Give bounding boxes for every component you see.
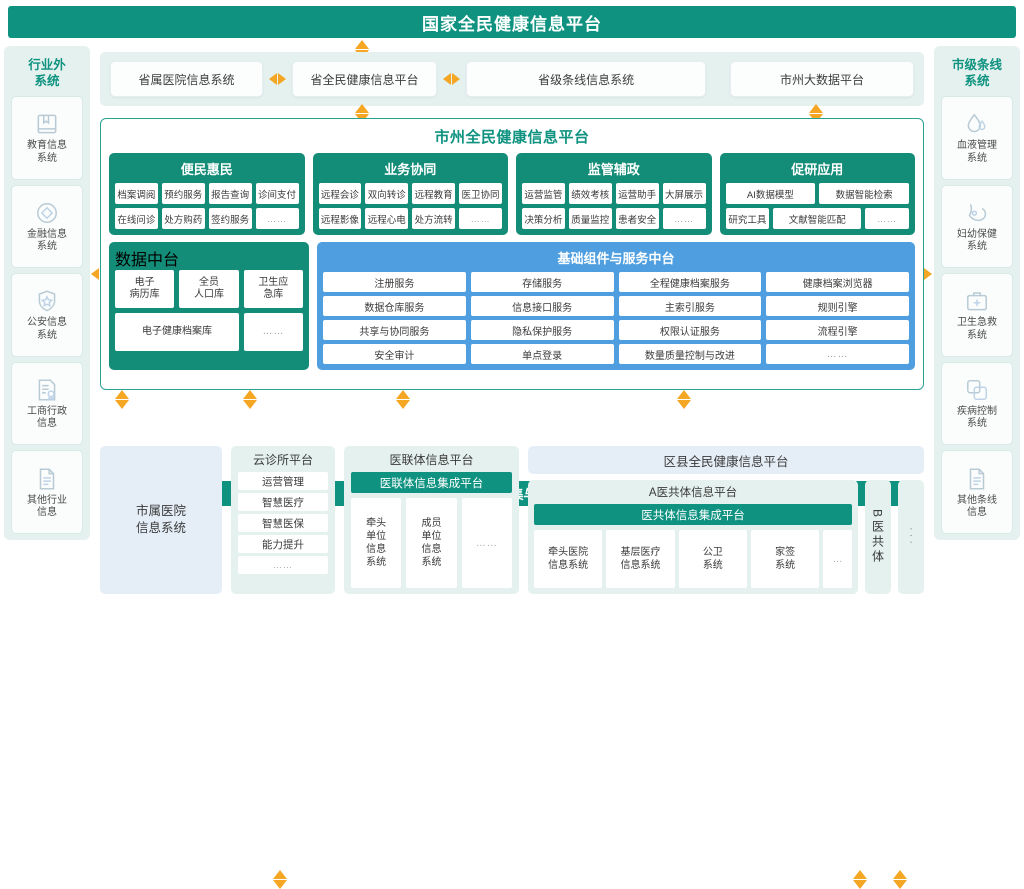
cloud-clinic-item[interactable]: 智慧医保 [238, 514, 328, 532]
domain-chip-row: 远程影像 远程心电 处方流转 …… [319, 208, 503, 229]
data-repo-cell[interactable]: 全员人口库 [179, 270, 238, 308]
domain-chip-row: 研究工具 文献智能匹配 …… [726, 208, 910, 229]
connector-arrow-district-medgroup-c [892, 870, 908, 889]
medical-union-cell-member[interactable]: 成员 单位 信息 系统 [406, 498, 456, 588]
domain-chip-row: 远程会诊 双向转诊 远程教育 医卫协同 [319, 183, 503, 204]
domain-chip[interactable]: 数据智能检索 [819, 183, 909, 204]
service-cell[interactable]: 共享与协同服务 [323, 320, 466, 340]
service-cell[interactable]: 信息接口服务 [471, 296, 614, 316]
business-domain-row: 便民惠民 档案调阅 预约服务 报告查询 诊间支付 在线问诊 处方购药 签约服务 … [109, 153, 915, 235]
domain-chip-more[interactable]: …… [256, 208, 299, 229]
connector-arrow-collect-district [676, 390, 692, 409]
domain-chip[interactable]: 双向转诊 [365, 183, 408, 204]
left-sidebar-title: 行业外 系统 [28, 52, 66, 96]
service-cell[interactable]: 主索引服务 [619, 296, 762, 316]
connector-arrow-district-medgroup-b [852, 870, 868, 889]
service-cell[interactable]: 数量质量控制与改进 [619, 344, 762, 364]
medgroup-a-title: A医共体信息平台 [534, 483, 852, 504]
domain-chip[interactable]: 在线问诊 [115, 208, 158, 229]
document-icon [964, 466, 990, 492]
service-cell[interactable]: 注册服务 [323, 272, 466, 292]
sidebar-item-public-security[interactable]: 公安信息系统 [11, 273, 83, 357]
district-health-platform-group: 区县全民健康信息平台 A医共体信息平台 医共体信息集成平台 [528, 446, 924, 594]
service-cell[interactable]: 权限认证服务 [619, 320, 762, 340]
data-repo-row: 电子病历库 全员人口库 卫生应急库 [115, 270, 303, 308]
center-stack: 省属医院信息系统 省全民健康信息平台 省级条线信息系统 市州大数据平台 市州全民… [96, 46, 928, 540]
service-middle-platform-card: 基础组件与服务中台 注册服务 存储服务 全程健康档案服务 健康档案浏览器 数据仓… [317, 242, 915, 370]
district-platform-title: 区县全民健康信息平台 [528, 446, 924, 474]
domain-chip[interactable]: 运营助手 [616, 183, 659, 204]
sidebar-item-label: 疾病控制系统 [957, 406, 997, 430]
domain-chip[interactable]: 质量监控 [569, 208, 612, 229]
domain-chip[interactable]: AI数据模型 [726, 183, 816, 204]
blood-drop-icon [964, 111, 990, 137]
service-cell[interactable]: 安全审计 [323, 344, 466, 364]
medical-union-cells: 牵头 单位 信息 系统 成员 单位 信息 系统 [351, 498, 512, 588]
province-hospital-system-box[interactable]: 省属医院信息系统 [110, 61, 263, 97]
domain-chip[interactable]: 远程教育 [412, 183, 455, 204]
domain-chip-row: 在线问诊 处方购药 签约服务 …… [115, 208, 299, 229]
domain-chip[interactable]: 决策分析 [522, 208, 565, 229]
domain-chip[interactable]: 绩效考核 [569, 183, 612, 204]
domain-card-collaboration: 业务协同 远程会诊 双向转诊 远程教育 医卫协同 远程影像 远程心电 处方流转 … [313, 153, 509, 235]
domain-chip[interactable]: 研究工具 [726, 208, 770, 229]
medgroup-b-platform[interactable]: B医共体 [865, 480, 891, 594]
medgroup-more-platform[interactable]: ··· [898, 480, 924, 594]
domain-card-convenience: 便民惠民 档案调阅 预约服务 报告查询 诊间支付 在线问诊 处方购药 签约服务 … [109, 153, 305, 235]
medgroup-cell-family-doctor[interactable]: 家签系统 [751, 530, 819, 588]
bottom-systems-zone: 市属医院信息系统 云诊所平台 运营管理 智慧医疗 智慧医保 能力提升 …… 医联… [100, 446, 924, 594]
domain-card-supervision: 监管辅政 运营监管 绩效考核 运营助手 大屏展示 决策分析 质量监控 患者安全 … [516, 153, 712, 235]
connector-arrow-collect-medical-union [395, 390, 411, 409]
data-repo-cell-more[interactable]: …… [244, 313, 303, 351]
cloud-clinic-item[interactable]: 智慧医疗 [238, 493, 328, 511]
medical-union-platform: 医联体信息平台 医联体信息集成平台 牵头 单位 信息 系统 成员 [344, 446, 519, 594]
sidebar-item-other-line-info[interactable]: 其他条线信息 [941, 450, 1013, 534]
city-bigdata-platform-box[interactable]: 市州大数据平台 [730, 61, 914, 97]
sidebar-item-label: 血液管理系统 [957, 140, 997, 164]
right-sidebar-title-line2: 系统 [964, 74, 989, 88]
connector-arrow-collect-city-hospital [114, 390, 130, 409]
service-cell[interactable]: 隐私保护服务 [471, 320, 614, 340]
cloud-clinic-item[interactable]: 运营管理 [238, 472, 328, 490]
domain-chip[interactable]: 大屏展示 [663, 183, 706, 204]
medgroup-cell-primary-care[interactable]: 基层医疗信息系统 [606, 530, 674, 588]
medgroup-cell-public-health[interactable]: 公卫系统 [679, 530, 747, 588]
overlapping-squares-icon [964, 377, 990, 403]
national-platform-banner: 国家全民健康信息平台 [8, 6, 1016, 38]
district-medgroups-row: A医共体信息平台 医共体信息集成平台 牵头医院信息系统 基层医疗信息系统 公卫系… [528, 480, 924, 594]
sidebar-item-business-administration[interactable]: 工商行政信息 [11, 362, 83, 446]
medgroup-a-platform: A医共体信息平台 医共体信息集成平台 牵头医院信息系统 基层医疗信息系统 公卫系… [528, 480, 858, 594]
sidebar-item-education[interactable]: 教育信息系统 [11, 96, 83, 180]
medical-union-cell-lead[interactable]: 牵头 单位 信息 系统 [351, 498, 401, 588]
domain-chip-row: 运营监管 绩效考核 运营助手 大屏展示 [522, 183, 706, 204]
service-cell[interactable]: 数据仓库服务 [323, 296, 466, 316]
domain-chip[interactable]: 档案调阅 [115, 183, 158, 204]
domain-chip-more[interactable]: …… [865, 208, 909, 229]
cloud-clinic-item-more[interactable]: …… [238, 556, 328, 574]
medical-union-integration-bar: 医联体信息集成平台 [351, 472, 512, 493]
service-cell[interactable]: 单点登录 [471, 344, 614, 364]
sidebar-item-label: 金融信息系统 [27, 229, 67, 253]
first-aid-kit-icon [964, 288, 990, 314]
domain-chip[interactable]: 远程会诊 [319, 183, 362, 204]
domain-chip[interactable]: 诊间支付 [256, 183, 299, 204]
domain-card-title: 便民惠民 [115, 157, 299, 183]
medgroup-cell-lead-hospital[interactable]: 牵头医院信息系统 [534, 530, 602, 588]
service-row: 安全审计 单点登录 数量质量控制与改进 …… [323, 344, 909, 364]
sidebar-item-emergency-rescue[interactable]: 卫生急救系统 [941, 273, 1013, 357]
medical-union-cell-more[interactable]: …… [462, 498, 512, 588]
city-panel-title: 市州全民健康信息平台 [109, 125, 915, 153]
data-middle-platform-card: 数据中台 电子病历库 全员人口库 卫生应急库 电子健康档案库 [109, 242, 309, 370]
cloud-clinic-platform: 云诊所平台 运营管理 智慧医疗 智慧医保 能力提升 …… [231, 446, 335, 594]
domain-card-title: 监管辅政 [522, 157, 706, 183]
architecture-diagram: 国家全民健康信息平台 行业外 系统 教育信息系统 金融信息系统 [0, 0, 1024, 548]
sidebar-item-maternal-child-health[interactable]: 妇幼保健系统 [941, 185, 1013, 269]
domain-chip[interactable]: 签约服务 [209, 208, 252, 229]
sidebar-item-other-industry[interactable]: 其他行业信息 [11, 450, 83, 534]
domain-chip[interactable]: 医卫协同 [459, 183, 502, 204]
service-cell[interactable]: 健康档案浏览器 [766, 272, 909, 292]
sidebar-item-finance[interactable]: 金融信息系统 [11, 185, 83, 269]
service-cell-more[interactable]: …… [766, 344, 909, 364]
certificate-icon [34, 377, 60, 403]
left-sidebar-external-systems: 行业外 系统 教育信息系统 金融信息系统 公安信息系统 [4, 46, 90, 540]
medgroup-a-integration-bar: 医共体信息集成平台 [534, 504, 852, 525]
domain-chip[interactable]: 预约服务 [162, 183, 205, 204]
domain-chip[interactable]: 报告查询 [209, 183, 252, 204]
data-middle-platform-title: 数据中台 [115, 246, 303, 270]
city-health-platform-panel: 市州全民健康信息平台 便民惠民 档案调阅 预约服务 报告查询 诊间支付 在线问诊… [100, 118, 924, 390]
sidebar-item-label: 卫生急救系统 [957, 317, 997, 341]
book-icon [34, 111, 60, 137]
sidebar-item-label: 妇幼保健系统 [957, 229, 997, 253]
city-hospital-info-system[interactable]: 市属医院信息系统 [100, 446, 222, 594]
service-row: 数据仓库服务 信息接口服务 主索引服务 规则引擎 [323, 296, 909, 316]
sidebar-item-label: 公安信息系统 [27, 317, 67, 341]
service-row: 注册服务 存储服务 全程健康档案服务 健康档案浏览器 [323, 272, 909, 292]
connector-arrow-prov2-prov3 [437, 73, 466, 85]
sidebar-item-blood-management[interactable]: 血液管理系统 [941, 96, 1013, 180]
sidebar-item-label: 工商行政信息 [27, 406, 67, 430]
service-cell[interactable]: 流程引擎 [766, 320, 909, 340]
platform-middle-row: 数据中台 电子病历库 全员人口库 卫生应急库 电子健康档案库 [109, 242, 915, 370]
maternal-icon [964, 200, 990, 226]
domain-chip-more[interactable]: …… [459, 208, 502, 229]
domain-chip[interactable]: 文献智能匹配 [773, 208, 861, 229]
domain-chip[interactable]: 处方购药 [162, 208, 205, 229]
domain-chip[interactable]: 处方流转 [412, 208, 455, 229]
service-row: 共享与协同服务 隐私保护服务 权限认证服务 流程引擎 [323, 320, 909, 340]
sidebar-item-label: 教育信息系统 [27, 140, 67, 164]
domain-card-title: 促研应用 [726, 157, 910, 183]
domain-chip-row: 档案调阅 预约服务 报告查询 诊间支付 [115, 183, 299, 204]
right-sidebar-city-line-systems: 市级条线 系统 血液管理系统 妇幼保健系统 卫生急救系统 [934, 46, 1020, 540]
connector-arrow-prov1-prov2 [263, 73, 292, 85]
domain-card-research: 促研应用 AI数据模型 数据智能检索 研究工具 文献智能匹配 …… [720, 153, 916, 235]
data-repo-cell[interactable]: 电子健康档案库 [115, 313, 239, 351]
medgroup-a-cells: 牵头医院信息系统 基层医疗信息系统 公卫系统 家签系统 … [534, 530, 852, 588]
left-sidebar-title-line2: 系统 [34, 74, 59, 88]
right-sidebar-title: 市级条线 系统 [952, 52, 1002, 96]
service-cell[interactable]: 全程健康档案服务 [619, 272, 762, 292]
shield-star-icon [34, 288, 60, 314]
sidebar-item-label: 其他行业信息 [27, 495, 67, 519]
document-icon [34, 466, 60, 492]
domain-chip[interactable]: 远程心电 [365, 208, 408, 229]
connector-arrow-collect-cloud-clinic [242, 390, 258, 409]
connector-arrow-district-medgroup-a [272, 870, 288, 889]
sidebar-item-label: 其他条线信息 [957, 495, 997, 519]
domain-chip[interactable]: 患者安全 [616, 208, 659, 229]
data-repo-row: 电子健康档案库 …… [115, 313, 303, 351]
domain-chip-more[interactable]: …… [663, 208, 706, 229]
service-cell[interactable]: 存储服务 [471, 272, 614, 292]
domain-chip-row: 决策分析 质量监控 患者安全 …… [522, 208, 706, 229]
sidebar-item-disease-control[interactable]: 疾病控制系统 [941, 362, 1013, 446]
cloud-clinic-item[interactable]: 能力提升 [238, 535, 328, 553]
province-health-platform-box[interactable]: 省全民健康信息平台 [292, 61, 437, 97]
domain-chip[interactable]: 运营监管 [522, 183, 565, 204]
right-sidebar-title-line1: 市级条线 [952, 58, 1002, 72]
domain-chip[interactable]: 远程影像 [319, 208, 362, 229]
province-line-system-box[interactable]: 省级条线信息系统 [466, 61, 706, 97]
data-repo-cell[interactable]: 卫生应急库 [244, 270, 303, 308]
service-cell[interactable]: 规则引擎 [766, 296, 909, 316]
domain-chip-row: AI数据模型 数据智能检索 [726, 183, 910, 204]
cloud-clinic-title: 云诊所平台 [238, 450, 328, 472]
medgroup-cell-more[interactable]: … [823, 530, 852, 588]
medical-union-title: 医联体信息平台 [351, 450, 512, 472]
data-repo-cell[interactable]: 电子病历库 [115, 270, 174, 308]
service-platform-title: 基础组件与服务中台 [323, 246, 909, 272]
domain-card-title: 业务协同 [319, 157, 503, 183]
diamond-circle-icon [34, 200, 60, 226]
left-sidebar-title-line1: 行业外 [28, 58, 66, 72]
province-level-band: 省属医院信息系统 省全民健康信息平台 省级条线信息系统 市州大数据平台 [100, 52, 924, 106]
